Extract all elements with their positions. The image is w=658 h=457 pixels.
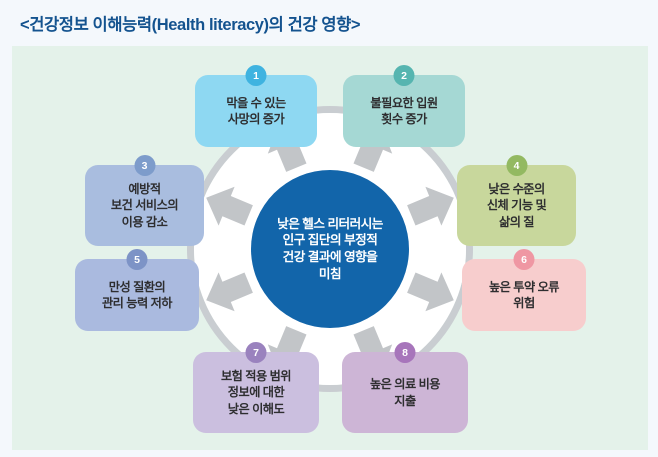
- impact-card-label-2: 불필요한 입원 횟수 증가: [364, 95, 443, 127]
- impact-card-label-3: 예방적 보건 서비스의 이용 감소: [105, 181, 184, 229]
- impact-card-badge-3: 3: [134, 155, 155, 176]
- impact-card-label-6: 높은 투약 오류 위험: [483, 279, 565, 311]
- impact-card-badge-2: 2: [394, 65, 415, 86]
- impact-card-8[interactable]: 높은 의료 비용 지출8: [342, 352, 468, 433]
- impact-card-body-7: 보험 적용 범위 정보에 대한 낮은 이해도: [193, 352, 319, 433]
- impact-card-body-8: 높은 의료 비용 지출: [342, 352, 468, 433]
- impact-card-3[interactable]: 예방적 보건 서비스의 이용 감소3: [85, 165, 204, 246]
- page-title: <건강정보 이해능력(Health literacy)의 건강 영향>: [20, 11, 360, 35]
- center-hub: 낮은 헬스 리터러시는 인구 집단의 부정적 건강 결과에 영향을 미침: [251, 170, 409, 328]
- impact-card-body-3: 예방적 보건 서비스의 이용 감소: [85, 165, 204, 246]
- impact-card-5[interactable]: 만성 질환의 관리 능력 저하5: [75, 259, 199, 331]
- impact-card-label-4: 낮은 수준의 신체 기능 및 삶의 질: [481, 181, 552, 229]
- impact-card-badge-5: 5: [127, 249, 148, 270]
- impact-card-badge-7: 7: [246, 342, 267, 363]
- impact-card-label-8: 높은 의료 비용 지출: [364, 376, 446, 408]
- impact-card-badge-8: 8: [395, 342, 416, 363]
- impact-card-6[interactable]: 높은 투약 오류 위험6: [462, 259, 586, 331]
- impact-card-label-7: 보험 적용 범위 정보에 대한 낮은 이해도: [215, 368, 297, 416]
- impact-card-label-1: 막을 수 있는 사망의 증가: [220, 95, 291, 127]
- impact-card-badge-1: 1: [246, 65, 267, 86]
- impact-card-7[interactable]: 보험 적용 범위 정보에 대한 낮은 이해도7: [193, 352, 319, 433]
- impact-card-2[interactable]: 불필요한 입원 횟수 증가2: [343, 75, 465, 147]
- impact-card-4[interactable]: 낮은 수준의 신체 기능 및 삶의 질4: [457, 165, 576, 246]
- impact-card-badge-6: 6: [514, 249, 535, 270]
- impact-card-badge-4: 4: [506, 155, 527, 176]
- impact-card-1[interactable]: 막을 수 있는 사망의 증가1: [195, 75, 317, 147]
- diagram-panel: 낮은 헬스 리터러시는 인구 집단의 부정적 건강 결과에 영향을 미침 막을 …: [12, 46, 648, 450]
- center-hub-text: 낮은 헬스 리터러시는 인구 집단의 부정적 건강 결과에 영향을 미침: [269, 216, 391, 282]
- health-literacy-cycle-diagram: 낮은 헬스 리터러시는 인구 집단의 부정적 건강 결과에 영향을 미침 막을 …: [12, 46, 648, 450]
- impact-card-body-4: 낮은 수준의 신체 기능 및 삶의 질: [457, 165, 576, 246]
- impact-card-label-5: 만성 질환의 관리 능력 저하: [96, 279, 178, 311]
